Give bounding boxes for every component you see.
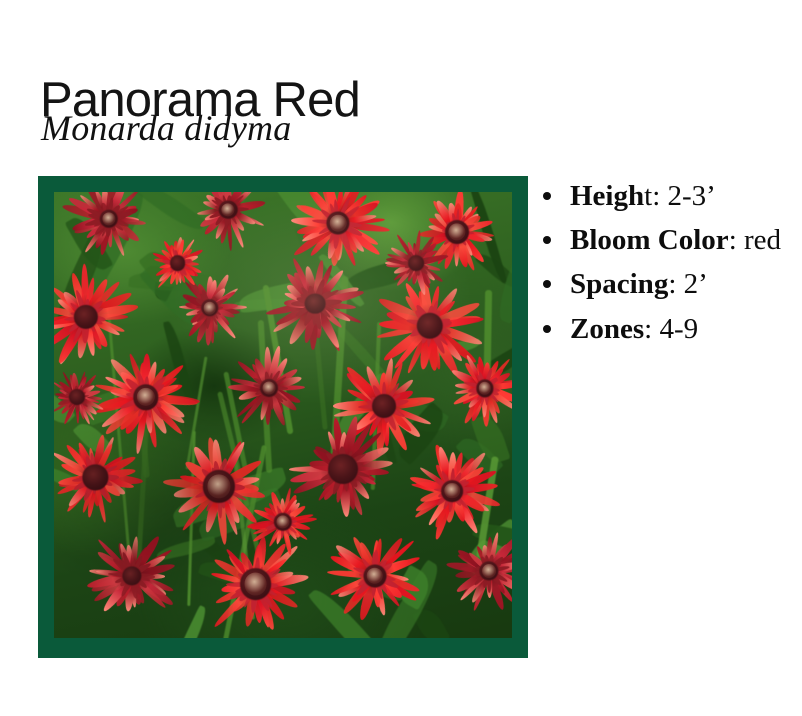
bee-balm-bloom (54, 369, 105, 425)
bee-balm-bloom (404, 443, 500, 539)
fact-separator: : (668, 268, 683, 300)
fact-value: 2-3’ (668, 180, 716, 212)
fact-label-tail: t (644, 180, 652, 212)
list-item: Height: 2-3’ (540, 176, 790, 217)
fact-label: Bloom Color (570, 224, 729, 256)
bloom-center-highlight (482, 564, 496, 578)
fact-separator: : (644, 313, 659, 345)
fact-label: Zones (570, 313, 644, 345)
bee-balm-bloom (148, 233, 208, 293)
fact-separator: : (652, 180, 667, 212)
fact-label: Spacing (570, 268, 668, 300)
bloom-center (408, 255, 424, 271)
bloom-center-highlight (366, 567, 383, 584)
fact-value: 2’ (684, 268, 708, 300)
bloom-center-highlight (330, 215, 347, 232)
bee-balm-bloom (265, 254, 365, 354)
bee-balm-bloom (63, 192, 155, 265)
photo-frame (38, 176, 528, 658)
fact-label: Heigh (570, 180, 644, 212)
bloom-center (328, 454, 358, 484)
fact-value: 4-9 (659, 313, 698, 345)
bee-balm-bloom (84, 528, 180, 624)
botanical-name: Monarda didyma (41, 108, 291, 148)
plant-info-card: Panorama Red Monarda didyma Height: 2-3’… (0, 0, 802, 716)
bloom-center (372, 394, 396, 418)
bee-balm-bloom (447, 529, 512, 613)
bee-balm-bloom (54, 431, 141, 523)
bloom-center (170, 255, 186, 271)
bee-balm-bloom (325, 526, 425, 626)
list-item: Zones: 4-9 (540, 309, 790, 350)
bloom-center-highlight (203, 302, 216, 315)
list-item: Spacing: 2’ (540, 264, 790, 305)
bloom-center-highlight (244, 573, 267, 596)
bee-balm-bloom (445, 348, 512, 428)
bloom-center (305, 293, 326, 314)
plant-facts-list: Height: 2-3’ Bloom Color: red Spacing: 2… (540, 176, 790, 353)
plant-photo (54, 192, 512, 638)
fact-value: red (744, 224, 781, 256)
list-item: Bloom Color: red (540, 220, 790, 261)
fact-separator: : (729, 224, 744, 256)
bee-balm-bloom (249, 488, 317, 556)
bee-balm-bloom (384, 231, 448, 295)
bloom-center-highlight (263, 382, 276, 395)
bloom-center-highlight (445, 483, 461, 499)
